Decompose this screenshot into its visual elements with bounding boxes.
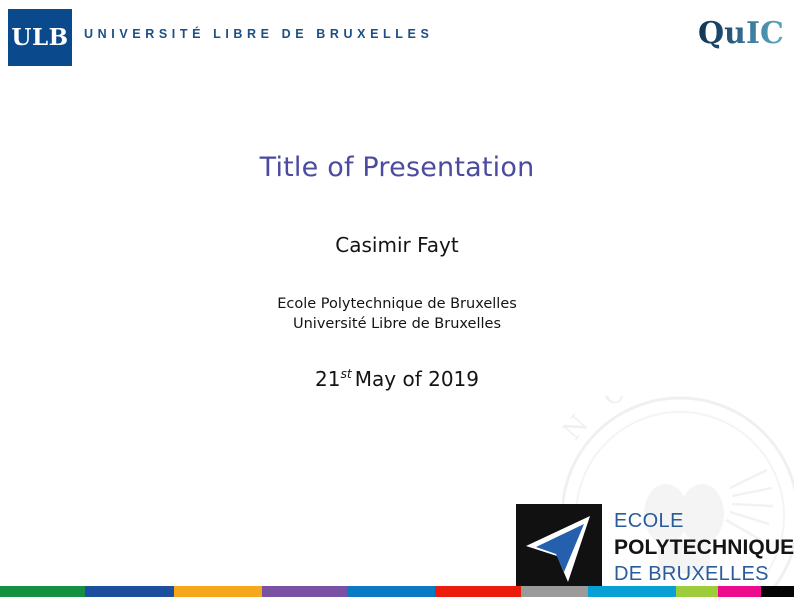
color-stripe [0, 586, 794, 597]
quic-logo: QuIC [698, 14, 782, 54]
presentation-slide: ULB UNIVERSITÉ LIBRE DE BRUXELLES QuIC A… [0, 0, 794, 597]
color-stripe-segment-light-green [676, 586, 719, 597]
epb-line-polytechnique: POLYTECHNIQUE [614, 534, 794, 561]
color-stripe-segment-blue [347, 586, 435, 597]
date-day: 21 [315, 367, 340, 391]
ecole-polytechnique-logo: ECOLE POLYTECHNIQUE DE BRUXELLES [516, 504, 794, 590]
color-stripe-segment-black [761, 586, 794, 597]
epb-line-ecole: ECOLE [614, 508, 794, 534]
date-ordinal-suffix: st [340, 366, 354, 381]
arrow-icon [516, 504, 602, 590]
color-stripe-segment-red [435, 586, 520, 597]
color-stripe-segment-dark-blue [85, 586, 173, 597]
color-stripe-segment-purple [262, 586, 347, 597]
ecole-polytechnique-wordmark: ECOLE POLYTECHNIQUE DE BRUXELLES [614, 508, 794, 587]
institute-block: Ecole Polytechnique de Bruxelles Univers… [0, 294, 794, 334]
presentation-date: 21stMay of 2019 [0, 367, 794, 391]
slide-header: ULB UNIVERSITÉ LIBRE DE BRUXELLES QuIC [0, 0, 794, 70]
ulb-logo: ULB [8, 9, 72, 66]
color-stripe-segment-gray [521, 586, 588, 597]
quic-logo-text: QuIC [698, 14, 784, 54]
author-name: Casimir Fayt [0, 233, 794, 257]
page-title: Title of Presentation [0, 152, 794, 183]
color-stripe-segment-green [0, 586, 85, 597]
color-stripe-segment-cyan [588, 586, 676, 597]
date-rest: May of 2019 [355, 367, 479, 391]
institute-line-1: Ecole Polytechnique de Bruxelles [0, 294, 794, 314]
institute-line-2: Université Libre de Bruxelles [0, 314, 794, 334]
ulb-wordmark: UNIVERSITÉ LIBRE DE BRUXELLES [84, 27, 433, 41]
color-stripe-segment-magenta [718, 586, 761, 597]
color-stripe-segment-orange [174, 586, 262, 597]
epb-line-de-bruxelles: DE BRUXELLES [614, 561, 794, 587]
ulb-logo-text: ULB [11, 26, 68, 49]
